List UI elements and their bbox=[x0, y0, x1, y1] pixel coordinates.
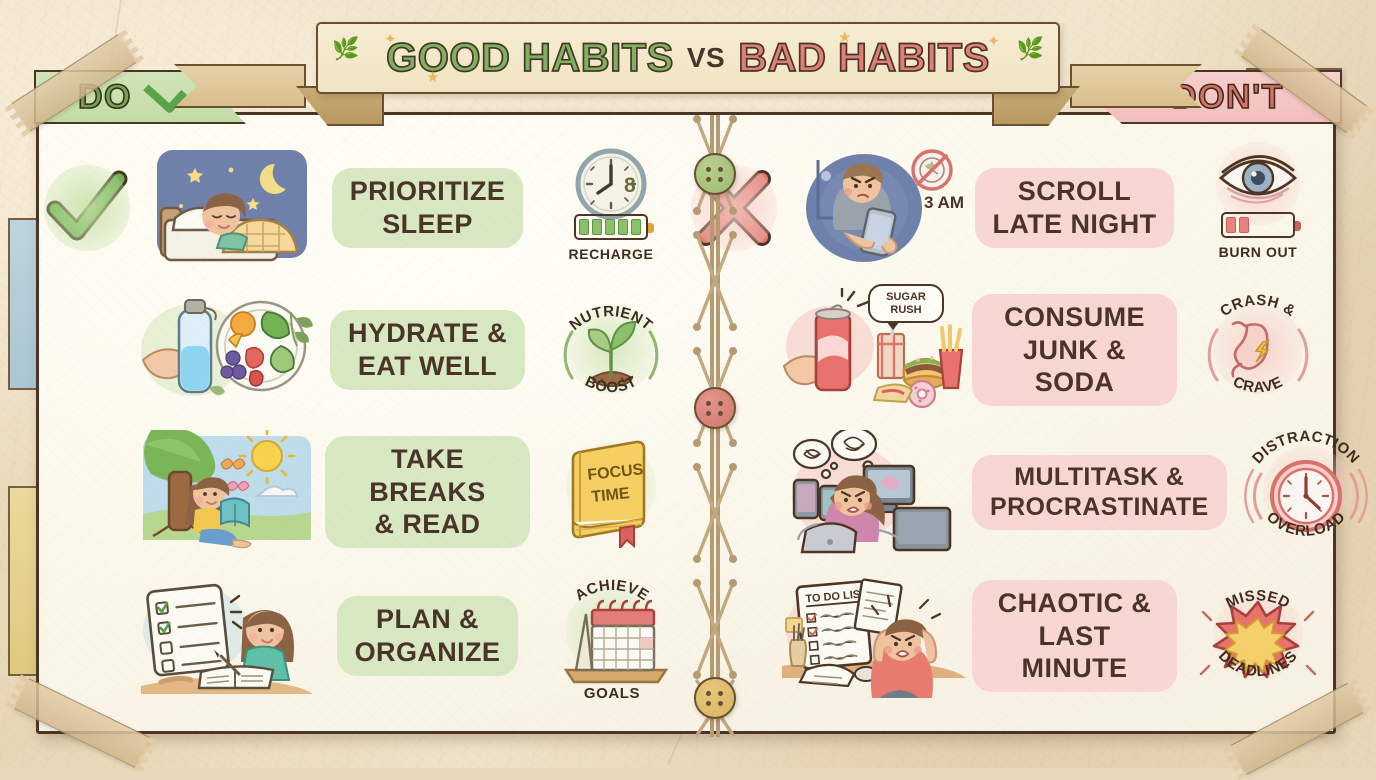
badge-arc-bottom: CRAVE bbox=[1230, 373, 1285, 396]
habit-label-line1: PRIORITIZE bbox=[350, 176, 506, 206]
title-banner: 🌿 🌿 ✦ ★ ★ ✦ GOOD HABITS VS BAD HABITS bbox=[292, 8, 1084, 112]
recharge-badge: 8 RECHARGE bbox=[536, 142, 686, 274]
badge-caption: BURN OUT bbox=[1183, 244, 1333, 260]
tired-eye-icon bbox=[1213, 144, 1303, 210]
svg-text:ACHIEVE: ACHIEVE bbox=[572, 577, 652, 605]
divider-button-red bbox=[694, 387, 736, 429]
focus-time-badge: FOCUS TIME bbox=[536, 426, 686, 558]
center-stitched-divider bbox=[689, 115, 741, 731]
achieve-goals-badge: ACHIEVE GOALS bbox=[536, 570, 686, 702]
missed-deadlines-badge: MISSED DEADLINES bbox=[1183, 570, 1333, 702]
habit-label-line1: MULTITASK & bbox=[1014, 463, 1184, 491]
habit-label: CONSUME JUNK & SODA bbox=[966, 294, 1183, 407]
girl-reading-under-tree-illustration bbox=[135, 430, 319, 554]
badge-caption: RECHARGE bbox=[536, 246, 686, 262]
boy-scrolling-phone-illustration: 3 AM bbox=[782, 146, 966, 270]
habit-label-line1: HYDRATE & bbox=[348, 318, 507, 348]
leaf-sprig-icon: 🌿 bbox=[1017, 36, 1044, 62]
starburst-badge-icon: MISSED DEADLINES bbox=[1187, 570, 1329, 702]
star-icon: ★ bbox=[838, 28, 851, 46]
svg-text:CRASH &: CRASH & bbox=[1217, 292, 1299, 320]
clock-hour-value: 8 bbox=[624, 174, 636, 197]
infographic-card: PRIORITIZE SLEEP 8 bbox=[36, 112, 1336, 734]
messy-desk-stress-illustration: TO DO LIST bbox=[782, 574, 966, 698]
habit-label-line2: JUNK & SODA bbox=[1023, 335, 1126, 398]
title-vs: VS bbox=[687, 42, 725, 74]
title-bad-habits: BAD HABITS bbox=[738, 36, 990, 81]
battery-low-icon bbox=[1221, 212, 1295, 238]
habit-label: PRIORITIZE SLEEP bbox=[319, 168, 536, 248]
nutrient-boost-badge: NUTRIENT BOOST bbox=[536, 284, 686, 416]
time-note: 3 AM bbox=[924, 193, 964, 212]
habit-label: MULTITASK & PROCRASTINATE bbox=[966, 455, 1233, 530]
check-mark-icon bbox=[39, 169, 135, 247]
habit-label: SCROLL LATE NIGHT bbox=[966, 168, 1183, 248]
burn-out-badge: BURN OUT bbox=[1183, 142, 1333, 274]
crash-crave-badge: CRASH & CRAVE bbox=[1183, 284, 1333, 416]
habit-label: CHAOTIC & LAST MINUTE bbox=[966, 580, 1183, 693]
leaf-sprig-icon: 🌿 bbox=[332, 36, 359, 62]
habit-label-line2: PROCRASTINATE bbox=[990, 493, 1209, 521]
alarm-clock-badge-icon: DISTRACTION OVERLOAD bbox=[1233, 426, 1376, 558]
do-column: PRIORITIZE SLEEP 8 bbox=[39, 115, 686, 731]
book-icon: FOCUS TIME bbox=[558, 436, 666, 548]
habit-row[interactable]: PRIORITIZE SLEEP 8 bbox=[39, 137, 686, 279]
calendar-badge-icon: ACHIEVE GOALS bbox=[542, 570, 682, 702]
stomach-badge-icon: CRASH & CRAVE bbox=[1187, 286, 1329, 416]
no-sleep-icon bbox=[913, 151, 951, 189]
habit-label-line2: ORGANIZE bbox=[355, 637, 501, 667]
habit-label-line2: LATE NIGHT bbox=[993, 209, 1157, 239]
badge-arc-bottom: GOALS bbox=[584, 685, 640, 702]
dont-column: 3 AM SCROLL LATE NIGHT bbox=[686, 115, 1333, 731]
multitasking-stress-illustration bbox=[782, 430, 966, 554]
divider-button-yellow bbox=[694, 677, 736, 719]
habit-row[interactable]: MULTITASK & PROCRASTINATE bbox=[686, 421, 1333, 563]
habit-label-line1: PLAN & bbox=[376, 604, 479, 634]
habit-label: HYDRATE & EAT WELL bbox=[319, 310, 536, 390]
clock-icon: 8 bbox=[568, 146, 654, 222]
speech-line2: RUSH bbox=[890, 304, 921, 316]
svg-text:CRAVE: CRAVE bbox=[1230, 373, 1285, 396]
divider-button-green bbox=[694, 153, 736, 195]
habit-label-line2: EAT WELL bbox=[358, 351, 497, 381]
habit-label-line1: SCROLL bbox=[1018, 176, 1131, 206]
habit-label-line2: & READ bbox=[375, 509, 481, 539]
habit-row[interactable]: 3 AM SCROLL LATE NIGHT bbox=[686, 137, 1333, 279]
habit-row[interactable]: TO DO LIST bbox=[686, 565, 1333, 707]
distraction-overload-badge: DISTRACTION OVERLOAD bbox=[1233, 426, 1376, 558]
habit-row[interactable]: PLAN & ORGANIZE bbox=[39, 565, 686, 707]
sparkle-icon: ✦ bbox=[987, 32, 1000, 50]
speech-line1: SUGAR bbox=[886, 291, 926, 303]
habit-label: PLAN & ORGANIZE bbox=[319, 596, 536, 676]
habit-row[interactable]: TAKE BREAKS & READ FOCUS TIME bbox=[39, 421, 686, 563]
habit-label-line1: CHAOTIC & bbox=[998, 588, 1152, 618]
habit-label-line1: TAKE BREAKS bbox=[369, 444, 485, 507]
checklist-and-writing-girl-illustration bbox=[135, 574, 319, 698]
sparkle-icon: ✦ bbox=[384, 30, 397, 48]
sprout-badge-icon: NUTRIENT BOOST bbox=[540, 286, 682, 416]
badge-arc-top: NUTRIENT bbox=[566, 303, 655, 334]
sugar-rush-speech-bubble: SUGAR RUSH bbox=[868, 284, 944, 323]
water-and-healthy-plate-illustration bbox=[135, 288, 319, 412]
habit-label-line2: LAST MINUTE bbox=[1022, 621, 1128, 684]
sleeping-girl-illustration bbox=[135, 146, 319, 270]
habit-label: TAKE BREAKS & READ bbox=[319, 436, 536, 549]
battery-full-icon bbox=[574, 214, 648, 240]
badge-arc-top: ACHIEVE bbox=[572, 577, 652, 605]
svg-text:NUTRIENT: NUTRIENT bbox=[566, 303, 655, 334]
badge-arc-top: CRASH & bbox=[1217, 292, 1299, 320]
habit-label-line2: SLEEP bbox=[382, 209, 473, 239]
soda-and-junk-food-illustration: SUGAR RUSH bbox=[782, 288, 966, 412]
title-plate: 🌿 🌿 ✦ ★ ★ ✦ GOOD HABITS VS BAD HABITS bbox=[316, 22, 1060, 94]
habit-row[interactable]: HYDRATE & EAT WELL bbox=[39, 279, 686, 421]
habit-row[interactable]: SUGAR RUSH CONSUME JUNK & SODA bbox=[686, 279, 1333, 421]
star-icon: ★ bbox=[426, 68, 439, 86]
habit-label-line1: CONSUME bbox=[1004, 302, 1145, 332]
